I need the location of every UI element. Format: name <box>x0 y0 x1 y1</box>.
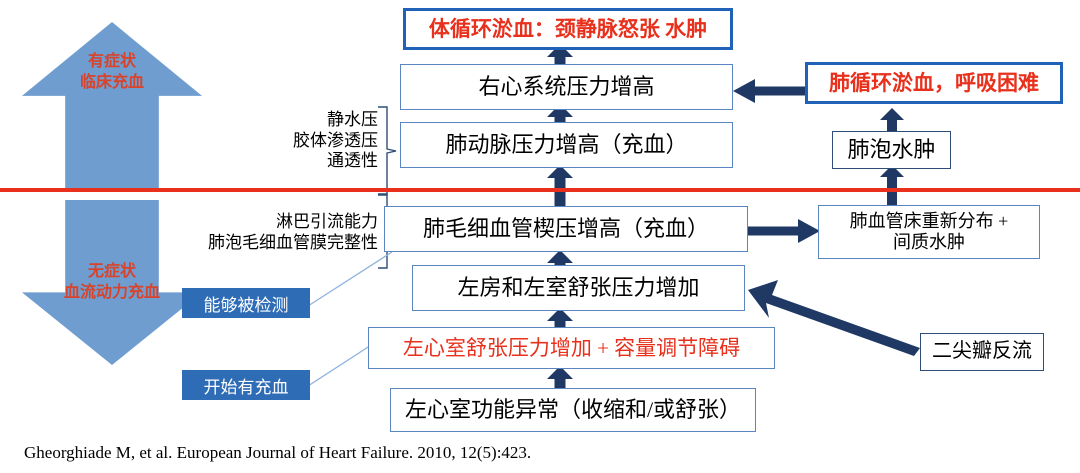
tag-congestion-begins-label: 开始有充血 <box>204 373 289 398</box>
arrow-up-to-pulmonary-congestion-icon <box>880 108 904 132</box>
arrow-right-to-redistribution-icon <box>748 219 820 243</box>
upper-factors-bracket <box>376 105 398 197</box>
phase-arrow-symptomatic <box>22 22 202 190</box>
tag-detectable-label: 能够被检测 <box>204 291 289 316</box>
arrow-up-to-alveolar-edema-icon <box>880 165 904 209</box>
tag-detectable[interactable]: 能够被检测 <box>182 288 310 318</box>
upper-factors-text: 静水压 胶体渗透压 通透性 <box>230 110 378 172</box>
box-lv-dysfunction[interactable]: 左心室功能异常（收缩和/或舒张） <box>390 388 756 432</box>
phase-divider-line <box>0 188 1080 192</box>
figure-canvas: 有症状 临床充血 无症状 血流动力充血 静水压 胶体渗透压 通透性 淋巴引流能力… <box>0 0 1080 473</box>
box-mitral-regurgitation[interactable]: 二尖瓣反流 <box>920 333 1044 371</box>
box-alveolar-edema[interactable]: 肺泡水肿 <box>832 131 951 169</box>
citation-text: Gheorghiade M, et al. European Journal o… <box>24 443 531 463</box>
box-pulmonary-congestion[interactable]: 肺循环淤血，呼吸困难 <box>805 62 1063 104</box>
arrow-left-to-right-heart-icon <box>733 79 805 103</box>
box-pulmonary-artery-pressure[interactable]: 肺动脉压力增高（充血） <box>400 122 733 168</box>
box-la-lv-diastolic-pressure[interactable]: 左房和左室舒张压力增加 <box>412 265 745 311</box>
box-right-heart-pressure[interactable]: 右心系统压力增高 <box>400 64 733 110</box>
tag-congestion-begins[interactable]: 开始有充血 <box>182 370 310 400</box>
arrow-up-to-lv-diastolic-plus-icon <box>547 366 573 390</box>
box-systemic-congestion[interactable]: 体循环淤血：颈静脉怒张 水肿 <box>403 8 733 50</box>
box-pcwp-increase[interactable]: 肺毛细血管楔压增高（充血） <box>384 206 748 252</box>
tag-detectable-leader <box>306 250 396 308</box>
lower-factors-text: 淋巴引流能力 肺泡毛细血管膜完整性 <box>150 212 378 253</box>
box-lv-diastolic-plus-volume[interactable]: 左心室舒张压力增加 + 容量调节障碍 <box>368 327 775 369</box>
box-pulmonary-vascular-redistribution[interactable]: 肺血管床重新分布 + 间质水肿 <box>818 205 1040 259</box>
